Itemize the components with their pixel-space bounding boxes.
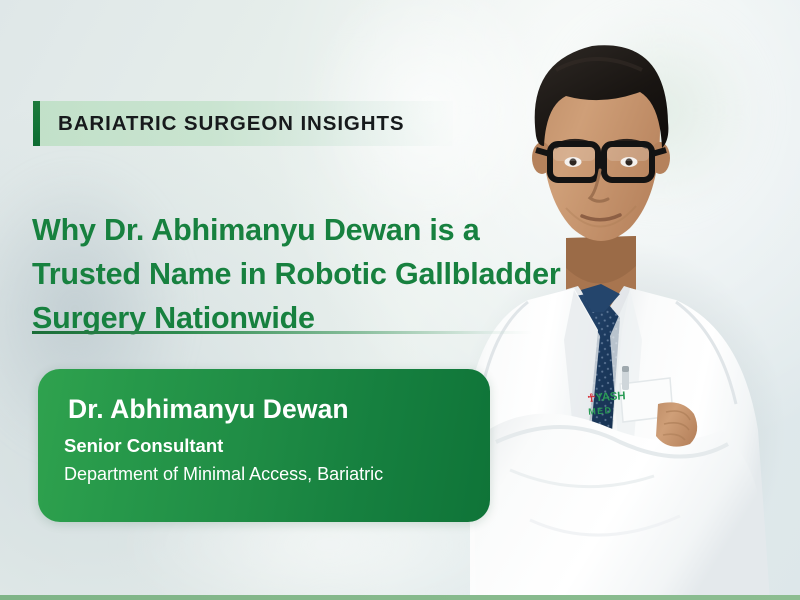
bottom-accent-rule <box>0 595 800 600</box>
headline-divider <box>32 331 532 334</box>
doctor-designation: Senior Consultant <box>64 435 223 457</box>
doctor-department: Department of Minimal Access, Bariatric <box>64 464 383 485</box>
doctor-promo-banner: ☥YASH MED BARIATRIC SURGEON INSIGHTS Why… <box>0 0 800 600</box>
headline-line-2: Trusted Name in Robotic Gallbladder <box>32 252 592 296</box>
eyebrow-badge: BARIATRIC SURGEON INSIGHTS <box>33 101 453 146</box>
headline-line-1: Why Dr. Abhimanyu Dewan is a <box>32 208 592 252</box>
eyebrow-accent-bar <box>33 101 40 146</box>
page-title: Why Dr. Abhimanyu Dewan is a Trusted Nam… <box>32 208 592 340</box>
doctor-name: Dr. Abhimanyu Dewan <box>68 394 349 425</box>
eyebrow-label: BARIATRIC SURGEON INSIGHTS <box>58 112 404 136</box>
doctor-name-card: Dr. Abhimanyu Dewan Senior Consultant De… <box>38 369 490 522</box>
